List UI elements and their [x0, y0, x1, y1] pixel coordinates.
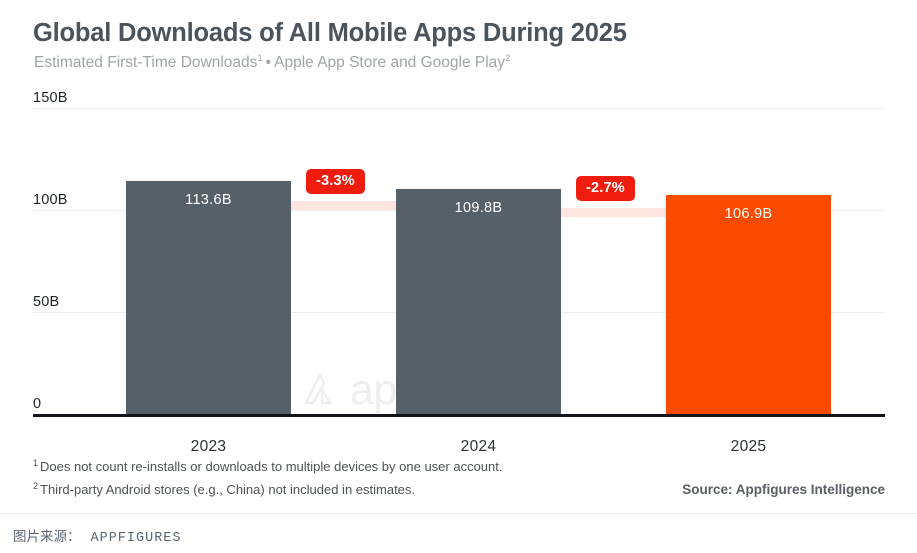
x-tick-label-2023: 2023 [126, 438, 291, 456]
bar-value-2024: 109.8B [396, 200, 561, 216]
bar-2023[interactable]: 113.6B [126, 181, 291, 414]
image-credit-label: 图片来源： [13, 529, 81, 544]
footnote-text-1: Does not count re-installs or downloads … [40, 459, 502, 474]
chart-card: Global Downloads of All Mobile Apps Duri… [0, 0, 917, 513]
y-tick-label-50b: 50B [33, 294, 59, 310]
image-credit-source: APPFIGURES [81, 531, 182, 546]
gridline-150b [33, 108, 885, 109]
bar-value-2025: 106.9B [666, 206, 831, 222]
subtitle-footnote-marker-2: 2 [505, 53, 510, 64]
change-badge-2024-2025[interactable]: -2.7% [576, 176, 635, 201]
footnote-text-2: Third-party Android stores (e.g., China)… [40, 482, 415, 497]
bar-value-2023: 113.6B [126, 192, 291, 208]
subtitle-text-2: Apple App Store and Google Play [274, 54, 505, 71]
image-credit-text: 图片来源：APPFIGURES [13, 525, 182, 546]
footnote-2: 2Third-party Android stores (e.g., China… [33, 482, 415, 497]
image-credit-bar: 图片来源：APPFIGURES [0, 513, 917, 553]
footnote-1: 1Does not count re-installs or downloads… [33, 459, 503, 474]
chart-subtitle: Estimated First-Time Downloads1•Apple Ap… [34, 54, 510, 72]
y-tick-label-100b: 100B [33, 192, 68, 208]
y-tick-label-150b: 150B [33, 90, 68, 106]
subtitle-text-1: Estimated First-Time Downloads [34, 54, 257, 71]
change-badge-2023-2024[interactable]: -3.3% [306, 169, 365, 194]
source-label: Source: Appfigures Intelligence [682, 482, 885, 497]
subtitle-separator-dot: • [263, 54, 274, 71]
footnote-marker-1: 1 [33, 458, 40, 468]
footnote-marker-2: 2 [33, 481, 40, 491]
subtitle-footnote-marker-1: 1 [257, 53, 262, 64]
x-tick-label-2024: 2024 [396, 438, 561, 456]
y-tick-label-0: 0 [33, 396, 41, 412]
bar-2024[interactable]: 109.8B [396, 189, 561, 414]
plot-area: 150B 100B 50B 0 appfigures 113.6B 109.8B… [0, 90, 917, 432]
x-tick-label-2025: 2025 [666, 438, 831, 456]
bar-2025[interactable]: 106.9B [666, 195, 831, 414]
page-title: Global Downloads of All Mobile Apps Duri… [33, 19, 627, 48]
x-axis-line [33, 414, 885, 417]
appfigures-logo-icon [300, 370, 340, 410]
